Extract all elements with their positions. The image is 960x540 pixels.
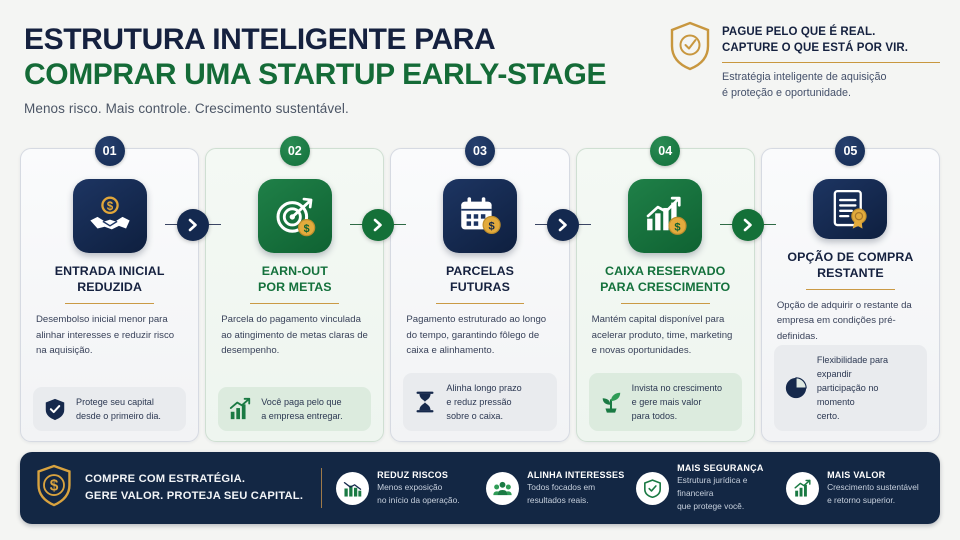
chip-text: Flexibilidade para expandir participação… (817, 353, 918, 423)
title-divider (65, 303, 154, 305)
banner-item-line2: que protege você. (677, 500, 776, 512)
banner-item-text: MAIS SEGURANÇA Estrutura jurídica e fina… (677, 463, 776, 512)
step-card-04[interactable]: 04 $ CAIXA RESERVADO PARA CRESCIMENTO Ma… (576, 148, 755, 442)
chip-line1: Flexibilidade para expandir (817, 353, 918, 381)
banner-item-line2: resultados reais. (527, 494, 624, 506)
banner-lead-line2: GERE VALOR. PROTEJA SEU CAPITAL. (85, 488, 303, 505)
step-number-badge: 01 (95, 136, 125, 166)
arrow-2[interactable] (362, 209, 394, 241)
step-title: PARCELAS FUTURAS (446, 263, 514, 296)
step-card-05[interactable]: 05 OPÇÃO DE COMPRA RESTANTE Opção de adq… (761, 148, 940, 442)
step-title: ENTRADA INICIAL REDUZIDA (55, 263, 165, 296)
step-title: CAIXA RESERVADO PARA CRESCIMENTO (600, 263, 730, 296)
shield-dollar-icon: $ (34, 463, 74, 514)
banner-item-text: MAIS VALOR Crescimento sustentável e ret… (827, 470, 919, 507)
step-title: OPÇÃO DE COMPRA RESTANTE (787, 249, 913, 282)
step-title-line1: PARCELAS (446, 264, 514, 278)
step-number-badge: 04 (650, 136, 680, 166)
banner-item-text: REDUZ RISCOS Menos exposição no início d… (377, 470, 459, 507)
chevron-right-icon (556, 218, 570, 232)
banner-item-line1: Estrutura jurídica e financeira (677, 474, 776, 499)
hourglass-icon (412, 389, 438, 415)
certificate-seal-icon (813, 179, 887, 239)
title-block: ESTRUTURA INTELIGENTE PARA COMPRAR UMA S… (24, 22, 664, 116)
svg-text:$: $ (488, 220, 495, 232)
step-title-line2: POR METAS (258, 280, 332, 294)
chip-line1: Você paga pelo que (261, 395, 342, 409)
step-card-02[interactable]: 02 $ EARN-OUT POR METAS Parcela do pagam… (205, 148, 384, 442)
chip-text: Você paga pelo que a empresa entregar. (261, 395, 342, 423)
step-title-line1: ENTRADA INICIAL (55, 264, 165, 278)
badge-sub2: é proteção e oportunidade. (722, 85, 940, 101)
banner-item-line2: e retorno superior. (827, 494, 919, 506)
arrow-1[interactable] (177, 209, 209, 241)
chip-line1: Alinha longo prazo (446, 381, 521, 395)
page-subtitle: Menos risco. Mais controle. Crescimento … (24, 101, 664, 116)
title-divider (436, 303, 525, 305)
banner-item-reduz-riscos: REDUZ RISCOS Menos exposição no início d… (336, 470, 476, 507)
title-divider (621, 303, 710, 305)
handshake-coin-icon: $ (73, 179, 147, 253)
banner-item-text: ALINHA INTERESSES Todos focados em resul… (527, 470, 624, 507)
step-benefit-chip: Invista no crescimento e gere mais valor… (589, 373, 742, 431)
chip-line2: e gere mais valor (632, 395, 722, 409)
banner-item-line1: Todos focados em (527, 481, 624, 493)
step-title-line1: OPÇÃO DE COMPRA (787, 250, 913, 264)
arrow-3[interactable] (547, 209, 579, 241)
step-benefit-chip: Flexibilidade para expandir participação… (774, 345, 927, 431)
arrow-4[interactable] (732, 209, 764, 241)
steps-row: 01 $ ENTRADA INICIAL REDUZIDA Desembolso… (20, 148, 940, 442)
step-title-line2: REDUZIDA (77, 280, 142, 294)
chevron-right-icon (186, 218, 200, 232)
bottom-banner: $ COMPRE COM ESTRATÉGIA. GERE VALOR. PRO… (20, 452, 940, 524)
header-badge-text: PAGUE PELO QUE É REAL. CAPTURE O QUE EST… (722, 20, 940, 102)
step-card-01[interactable]: 01 $ ENTRADA INICIAL REDUZIDA Desembolso… (20, 148, 199, 442)
banner-item-mais-valor: MAIS VALOR Crescimento sustentável e ret… (786, 470, 926, 507)
growth-chart-icon (786, 472, 819, 505)
banner-divider (321, 468, 322, 508)
pie-chart-icon (783, 375, 809, 401)
growth-chart-icon (227, 396, 253, 422)
chip-line1: Invista no crescimento (632, 381, 722, 395)
step-title-line2: PARA CRESCIMENTO (600, 280, 730, 294)
shield-check-icon (636, 472, 669, 505)
page-title-line2: COMPRAR UMA STARTUP EARLY-STAGE (24, 57, 664, 92)
step-description: Parcela do pagamento vinculada ao atingi… (218, 312, 371, 359)
step-number-badge: 03 (465, 136, 495, 166)
badge-line2: CAPTURE O QUE ESTÁ POR VIR. (722, 40, 940, 56)
shield-check-icon (42, 396, 68, 422)
chip-text: Invista no crescimento e gere mais valor… (632, 381, 722, 423)
people-group-icon (486, 472, 519, 505)
badge-divider (722, 62, 940, 64)
title-divider (250, 303, 339, 305)
page-title-line1: ESTRUTURA INTELIGENTE PARA (24, 22, 664, 57)
banner-item-heading: ALINHA INTERESSES (527, 470, 624, 480)
banner-lead-line1: COMPRE COM ESTRATÉGIA. (85, 471, 303, 488)
badge-line1: PAGUE PELO QUE É REAL. (722, 24, 940, 40)
chip-text: Protege seu capital desde o primeiro dia… (76, 395, 161, 423)
banner-item-heading: MAIS VALOR (827, 470, 919, 480)
banner-lead: $ COMPRE COM ESTRATÉGIA. GERE VALOR. PRO… (34, 463, 317, 514)
step-title-line1: CAIXA RESERVADO (605, 264, 725, 278)
svg-text:$: $ (50, 477, 59, 494)
banner-item-alinha-interesses: ALINHA INTERESSES Todos focados em resul… (486, 470, 626, 507)
banner-item-heading: MAIS SEGURANÇA (677, 463, 776, 473)
step-number-badge: 02 (280, 136, 310, 166)
chip-line2: participação no momento (817, 381, 918, 409)
step-card-03[interactable]: 03 $ PARCELAS FUTURAS Pagamento estrutur… (390, 148, 569, 442)
svg-text:$: $ (106, 200, 113, 213)
step-description: Opção de adquirir o restante da empresa … (774, 298, 927, 345)
chip-line1: Protege seu capital (76, 395, 161, 409)
banner-item-line2: no início da operação. (377, 494, 459, 506)
plant-growth-icon (598, 389, 624, 415)
chip-line2: a empresa entregar. (261, 409, 342, 423)
step-title-line2: FUTURAS (450, 280, 510, 294)
banner-items: REDUZ RISCOS Menos exposição no início d… (336, 463, 926, 512)
chip-line3: certo. (817, 409, 918, 423)
badge-sub1: Estratégia inteligente de aquisição (722, 69, 940, 85)
step-benefit-chip: Protege seu capital desde o primeiro dia… (33, 387, 186, 431)
banner-item-line1: Crescimento sustentável (827, 481, 919, 493)
chevron-right-icon (371, 218, 385, 232)
shield-check-icon (668, 20, 712, 72)
step-benefit-chip: Alinha longo prazo e reduz pressão sobre… (403, 373, 556, 431)
banner-item-line1: Menos exposição (377, 481, 459, 493)
bar-chart-down-icon (336, 472, 369, 505)
banner-item-heading: REDUZ RISCOS (377, 470, 459, 480)
step-title: EARN-OUT POR METAS (258, 263, 332, 296)
calendar-coin-icon: $ (443, 179, 517, 253)
step-benefit-chip: Você paga pelo que a empresa entregar. (218, 387, 371, 431)
chip-line3: sobre o caixa. (446, 409, 521, 423)
step-title-line2: RESTANTE (817, 266, 884, 280)
banner-item-mais-seguranca: MAIS SEGURANÇA Estrutura jurídica e fina… (636, 463, 776, 512)
chip-line2: desde o primeiro dia. (76, 409, 161, 423)
header-badge: PAGUE PELO QUE É REAL. CAPTURE O QUE EST… (668, 20, 940, 102)
step-title-line1: EARN-OUT (262, 264, 328, 278)
svg-text:$: $ (303, 223, 309, 235)
svg-text:$: $ (675, 221, 682, 233)
step-description: Mantém capital disponível para acelerar … (589, 312, 742, 359)
title-divider (806, 289, 895, 290)
chip-line2: e reduz pressão (446, 395, 521, 409)
chip-text: Alinha longo prazo e reduz pressão sobre… (446, 381, 521, 423)
chip-line3: para todos. (632, 409, 722, 423)
step-description: Pagamento estruturado ao longo do tempo,… (403, 312, 556, 359)
step-number-badge: 05 (835, 136, 865, 166)
header: ESTRUTURA INTELIGENTE PARA COMPRAR UMA S… (0, 0, 960, 132)
chevron-right-icon (741, 218, 755, 232)
target-arrow-coin-icon: $ (258, 179, 332, 253)
banner-lead-text: COMPRE COM ESTRATÉGIA. GERE VALOR. PROTE… (85, 471, 303, 504)
growth-chart-coin-icon: $ (628, 179, 702, 253)
step-description: Desembolso inicial menor para alinhar in… (33, 312, 186, 359)
